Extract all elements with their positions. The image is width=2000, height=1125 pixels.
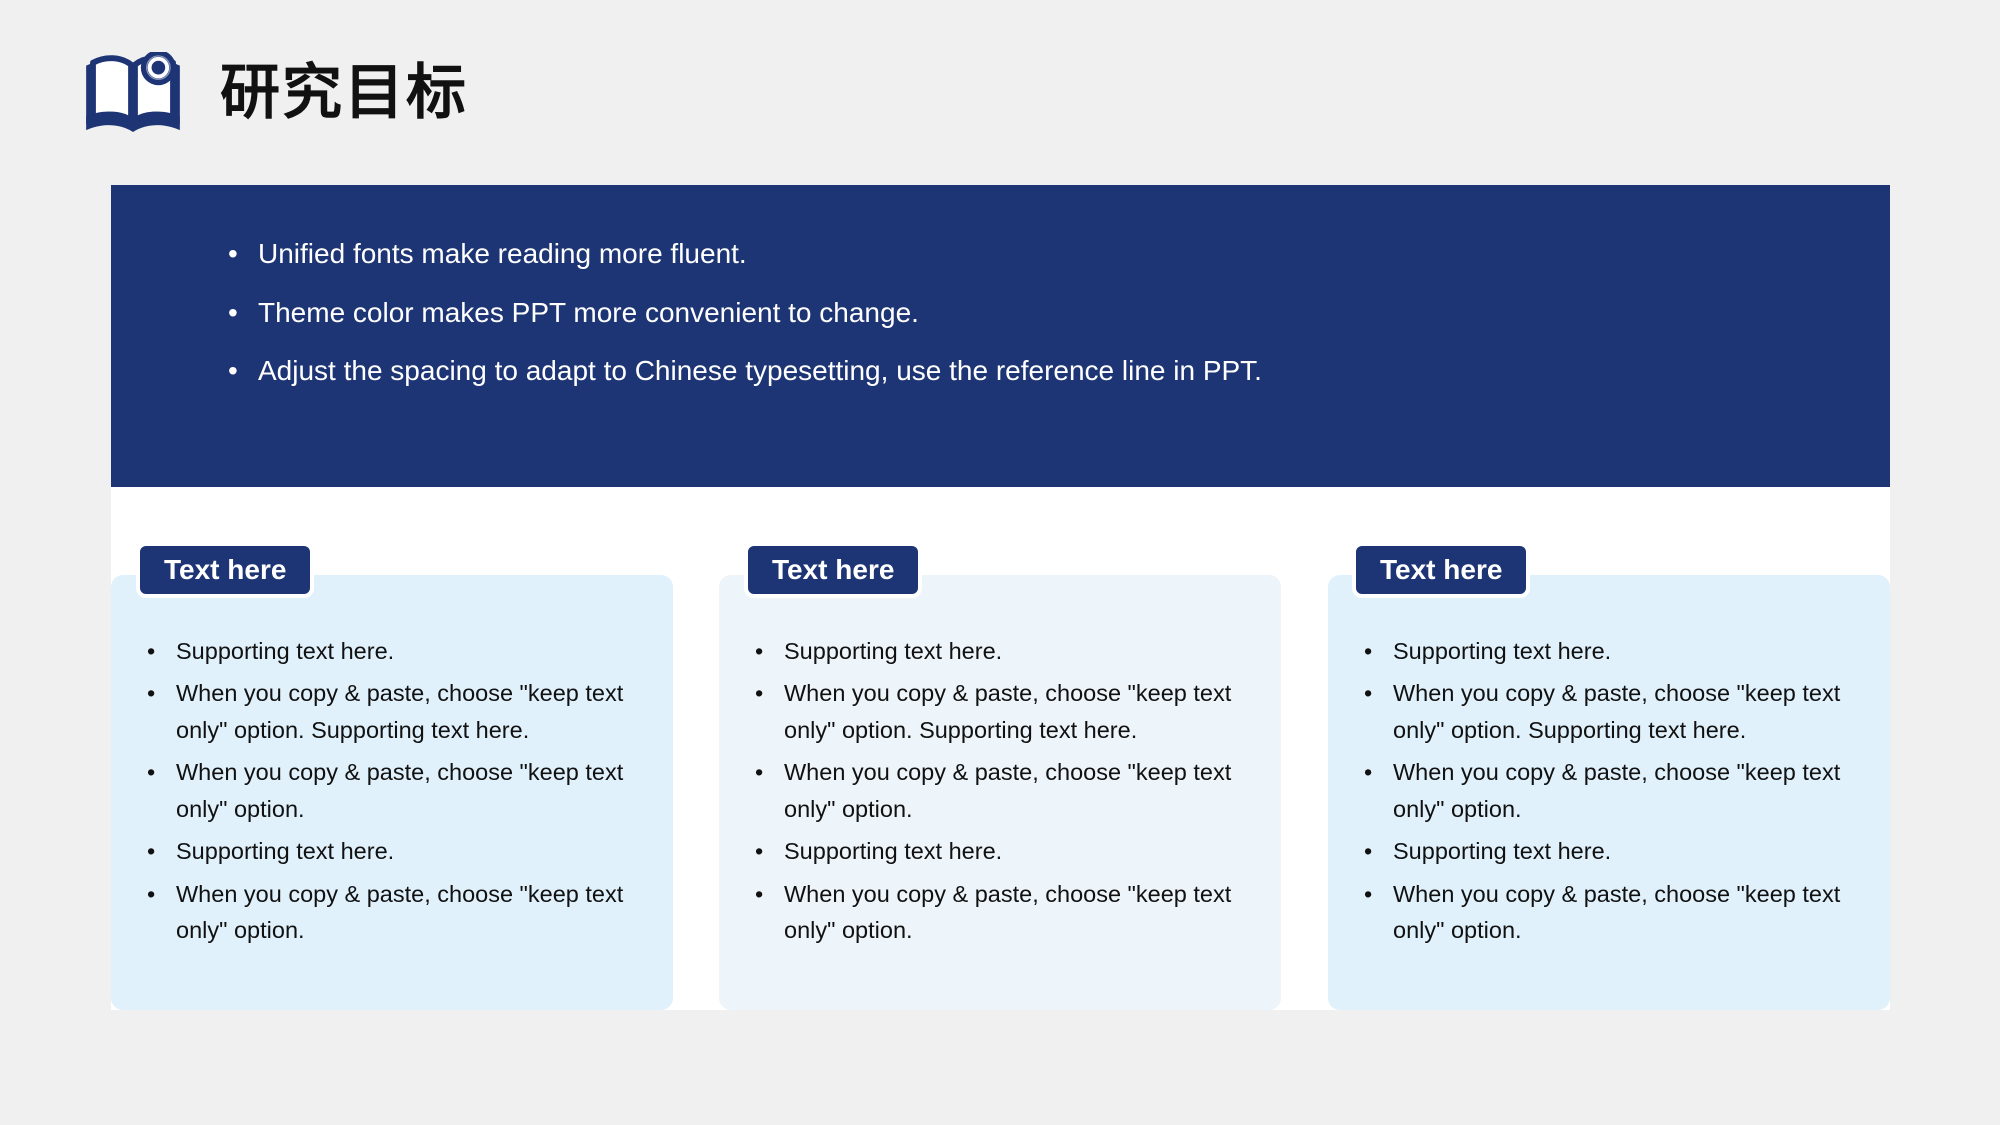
info-card: • Supporting text here. • When you copy … xyxy=(719,575,1281,1010)
bullet-icon: • xyxy=(147,876,155,912)
card-title-badge: Text here xyxy=(744,542,922,598)
intro-banner: • Unified fonts make reading more fluent… xyxy=(111,185,1890,487)
card-bullet-text: When you copy & paste, choose "keep text… xyxy=(1393,680,1840,742)
slide-header: 研究目标 xyxy=(84,52,468,134)
info-card: • Supporting text here. • When you copy … xyxy=(1328,575,1890,1010)
card-bullet-text: Supporting text here. xyxy=(784,638,1002,664)
card-bullet-item: • When you copy & paste, choose "keep te… xyxy=(751,876,1259,949)
card-bullet-item: • When you copy & paste, choose "keep te… xyxy=(143,754,651,827)
bullet-icon: • xyxy=(228,237,238,271)
card-bullet-item: • Supporting text here. xyxy=(751,833,1259,869)
bullet-icon: • xyxy=(147,833,155,869)
card-bullet-text: When you copy & paste, choose "keep text… xyxy=(784,881,1231,943)
card-bullet-text: Supporting text here. xyxy=(784,838,1002,864)
bullet-icon: • xyxy=(1364,833,1372,869)
banner-bullet-text: Theme color makes PPT more convenient to… xyxy=(258,297,919,328)
banner-bullet-item: • Adjust the spacing to adapt to Chinese… xyxy=(228,354,1262,388)
card-bullet-text: Supporting text here. xyxy=(176,838,394,864)
banner-bullet-list: • Unified fonts make reading more fluent… xyxy=(228,237,1262,413)
open-book-icon xyxy=(84,52,182,134)
card-bullet-text: Supporting text here. xyxy=(1393,638,1611,664)
card-bullet-item: • When you copy & paste, choose "keep te… xyxy=(143,876,651,949)
card-bullet-item: • When you copy & paste, choose "keep te… xyxy=(751,675,1259,748)
card-bullet-text: Supporting text here. xyxy=(1393,838,1611,864)
card-bullet-item: • When you copy & paste, choose "keep te… xyxy=(751,754,1259,827)
bullet-icon: • xyxy=(147,633,155,669)
card-bullet-item: • Supporting text here. xyxy=(1360,633,1868,669)
card-bullet-text: When you copy & paste, choose "keep text… xyxy=(1393,759,1840,821)
bullet-icon: • xyxy=(228,296,238,330)
card-bullet-item: • When you copy & paste, choose "keep te… xyxy=(1360,754,1868,827)
bullet-icon: • xyxy=(228,354,238,388)
card-bullet-item: • Supporting text here. xyxy=(1360,833,1868,869)
cards-row: • Supporting text here. • When you copy … xyxy=(111,575,1890,1010)
banner-bullet-item: • Unified fonts make reading more fluent… xyxy=(228,237,1262,271)
card-bullet-item: • When you copy & paste, choose "keep te… xyxy=(1360,675,1868,748)
banner-bullet-text: Unified fonts make reading more fluent. xyxy=(258,238,747,269)
card-bullet-text: Supporting text here. xyxy=(176,638,394,664)
card-bullet-text: When you copy & paste, choose "keep text… xyxy=(176,881,623,943)
card-bullet-list: • Supporting text here. • When you copy … xyxy=(143,633,651,954)
card-title-badge: Text here xyxy=(136,542,314,598)
card-bullet-item: • Supporting text here. xyxy=(143,633,651,669)
card-bullet-text: When you copy & paste, choose "keep text… xyxy=(784,759,1231,821)
card-bullet-item: • When you copy & paste, choose "keep te… xyxy=(1360,876,1868,949)
bullet-icon: • xyxy=(755,675,763,711)
bullet-icon: • xyxy=(1364,754,1372,790)
bullet-icon: • xyxy=(755,754,763,790)
card-bullet-item: • Supporting text here. xyxy=(143,833,651,869)
bullet-icon: • xyxy=(1364,675,1372,711)
bullet-icon: • xyxy=(755,633,763,669)
banner-bullet-text: Adjust the spacing to adapt to Chinese t… xyxy=(258,355,1262,386)
card-bullet-text: When you copy & paste, choose "keep text… xyxy=(784,680,1231,742)
card-bullet-item: • Supporting text here. xyxy=(751,633,1259,669)
bullet-icon: • xyxy=(147,675,155,711)
page-title: 研究目标 xyxy=(220,63,468,123)
bullet-icon: • xyxy=(147,754,155,790)
card-bullet-text: When you copy & paste, choose "keep text… xyxy=(1393,881,1840,943)
card-bullet-text: When you copy & paste, choose "keep text… xyxy=(176,680,623,742)
info-card: • Supporting text here. • When you copy … xyxy=(111,575,673,1010)
bullet-icon: • xyxy=(755,833,763,869)
card-bullet-list: • Supporting text here. • When you copy … xyxy=(751,633,1259,954)
bullet-icon: • xyxy=(1364,876,1372,912)
card-bullet-list: • Supporting text here. • When you copy … xyxy=(1360,633,1868,954)
card-title-badge: Text here xyxy=(1352,542,1530,598)
banner-bullet-item: • Theme color makes PPT more convenient … xyxy=(228,296,1262,330)
bullet-icon: • xyxy=(1364,633,1372,669)
card-bullet-item: • When you copy & paste, choose "keep te… xyxy=(143,675,651,748)
bullet-icon: • xyxy=(755,876,763,912)
card-bullet-text: When you copy & paste, choose "keep text… xyxy=(176,759,623,821)
